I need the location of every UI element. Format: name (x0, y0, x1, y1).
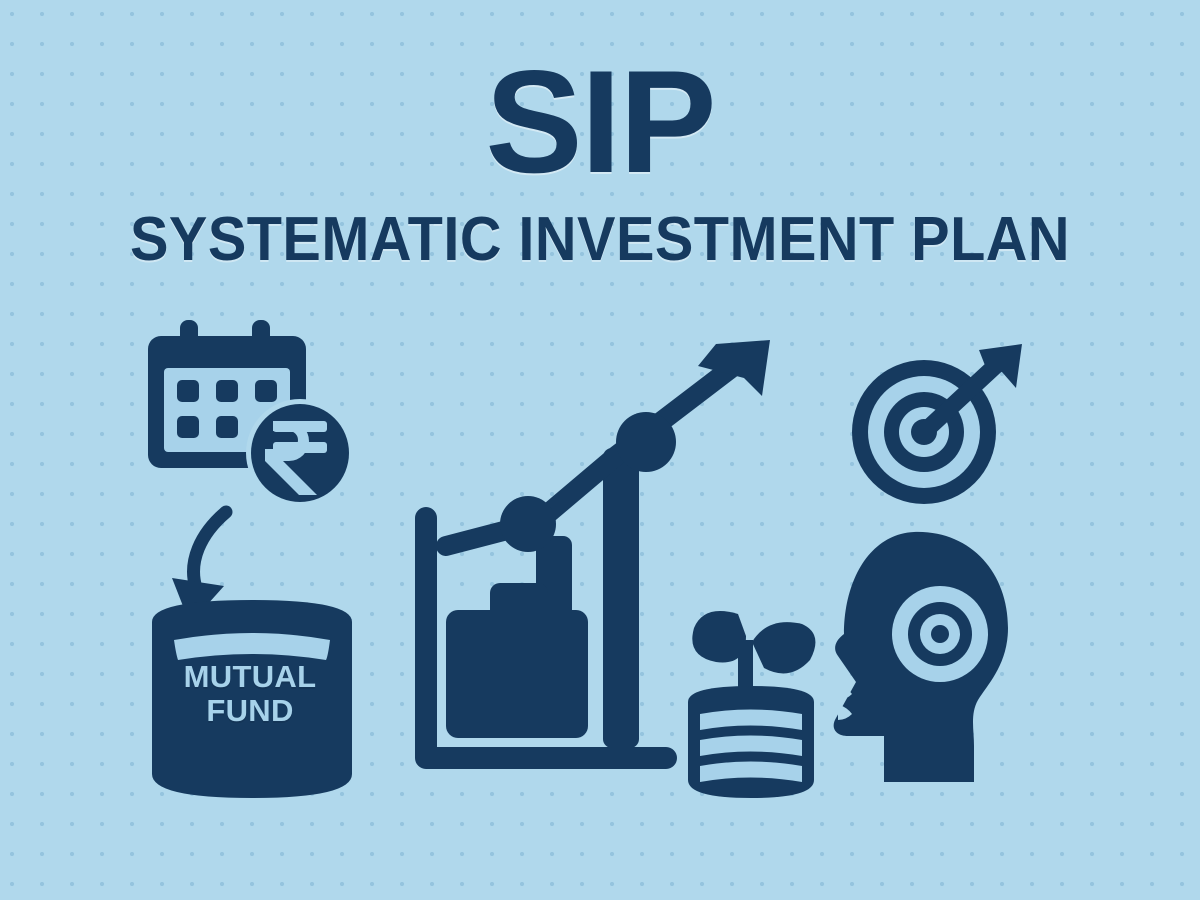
chart-node-dot (616, 412, 676, 472)
chart-bar-tall (603, 448, 639, 748)
fund-cylinder-icon (152, 600, 352, 798)
target-arrow-icon (846, 344, 1036, 514)
calendar-day-cell (216, 380, 238, 402)
rupee-coin-icon (246, 399, 354, 507)
sprout-stem (738, 640, 753, 694)
page-title: SIP (0, 52, 1200, 192)
coin-stack-icon (688, 686, 814, 798)
sip-infographic: SIP SYSTEMATIC INVESTMENT PLAN (0, 0, 1200, 900)
page-subtitle: SYSTEMATIC INVESTMENT PLAN (42, 208, 1158, 272)
coin-plant-icon (676, 596, 826, 806)
calendar-day-cell (177, 380, 199, 402)
focus-target-icon (892, 586, 988, 682)
calendar-day-cell (216, 416, 238, 438)
sprout-leaf-left (692, 611, 746, 662)
sprout-icon (692, 611, 815, 694)
chart-node-dot (500, 496, 556, 552)
sprout-leaf-right (752, 622, 815, 673)
mutual-fund-icon (138, 500, 368, 800)
header-block: SIP SYSTEMATIC INVESTMENT PLAN (0, 52, 1200, 272)
calendar-day-cell (255, 380, 277, 402)
calendar-day-cell (177, 416, 199, 438)
head-mind-icon (822, 524, 1022, 794)
